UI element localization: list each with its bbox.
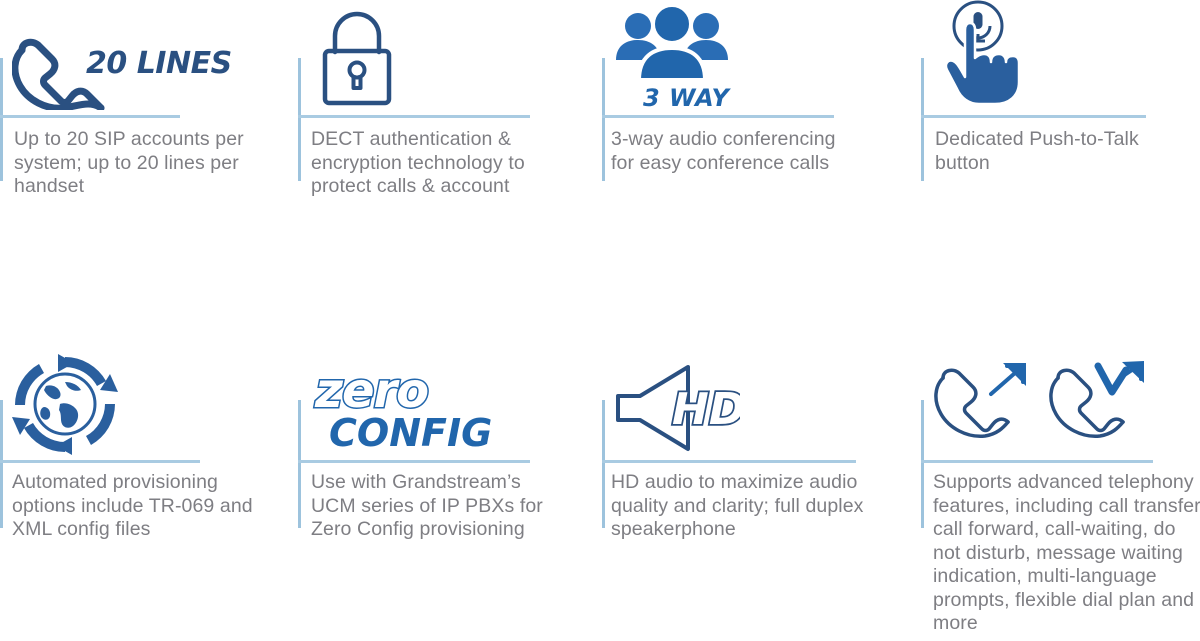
three-people-conference-icon: 3 WAY: [612, 4, 732, 87]
feature-card-3way: 3 WAY 3-way audio conferencing for easy …: [598, 0, 898, 320]
feature-description: Up to 20 SIP accounts per system; up to …: [14, 128, 264, 199]
divider-horizontal: [298, 460, 530, 463]
divider-horizontal: [602, 460, 856, 463]
feature-description: Supports advanced telephony features, in…: [933, 471, 1200, 636]
divider-vertical: [602, 58, 605, 181]
hand-pressing-microphone-button-icon: [931, 0, 1041, 115]
wordmark-config: CONFIG: [329, 414, 492, 452]
globe-with-circular-arrows-icon: [10, 352, 120, 462]
feature-description: Dedicated Push-to-Talk button: [935, 128, 1195, 175]
padlock-icon: [315, 8, 399, 113]
feature-description: HD audio to maximize audio quality and c…: [611, 471, 871, 542]
wordmark-hd: HD: [672, 384, 740, 435]
feature-description: DECT authentication & encryption technol…: [311, 128, 561, 199]
feature-card-push-to-talk: Dedicated Push-to-Talk button: [903, 0, 1200, 320]
feature-card-lines: 20 LINES Up to 20 SIP accounts per syste…: [0, 0, 300, 320]
divider-vertical: [602, 400, 605, 528]
feature-description: Use with Grandstream’s UCM series of IP …: [311, 471, 561, 542]
divider-vertical: [0, 58, 3, 181]
divider-vertical: [298, 400, 301, 528]
divider-vertical: [298, 58, 301, 181]
feature-card-telephony: Supports advanced telephony features, in…: [903, 340, 1200, 641]
divider-horizontal: [298, 115, 530, 118]
phone-handset-20-lines-icon: 20 LINES: [12, 38, 192, 115]
call-transfer-handset-icon: [936, 363, 1026, 436]
divider-horizontal: [921, 460, 1153, 463]
zero-config-wordmark-icon: zero CONFIG: [315, 368, 492, 452]
divider-horizontal: [921, 115, 1146, 118]
call-forward-handset-icon: [1051, 361, 1144, 436]
divider-horizontal: [602, 115, 834, 118]
feature-card-provisioning: Automated provisioning options include T…: [0, 340, 300, 641]
hd-speaker-icon: HD: [610, 362, 740, 459]
divider-vertical: [0, 400, 3, 528]
divider-vertical: [921, 58, 924, 181]
feature-card-zero-config: zero CONFIG Use with Grandstream’s UCM s…: [293, 340, 593, 641]
feature-description: 3-way audio conferencing for easy confer…: [611, 128, 861, 175]
wordmark-20-lines: 20 LINES: [86, 46, 232, 81]
divider-horizontal: [0, 115, 180, 118]
feature-card-hd-audio: HD HD audio to maximize audio quality an…: [598, 340, 898, 641]
divider-vertical: [921, 400, 924, 528]
feature-card-dect: DECT authentication & encryption technol…: [293, 0, 593, 320]
wordmark-zero: zero: [315, 368, 492, 414]
wordmark-3-way: 3 WAY: [643, 84, 729, 112]
call-transfer-and-forward-handsets-icon: [931, 360, 1161, 445]
feature-description: Automated provisioning options include T…: [12, 471, 272, 542]
feature-grid: 20 LINES Up to 20 SIP accounts per syste…: [0, 0, 1200, 641]
